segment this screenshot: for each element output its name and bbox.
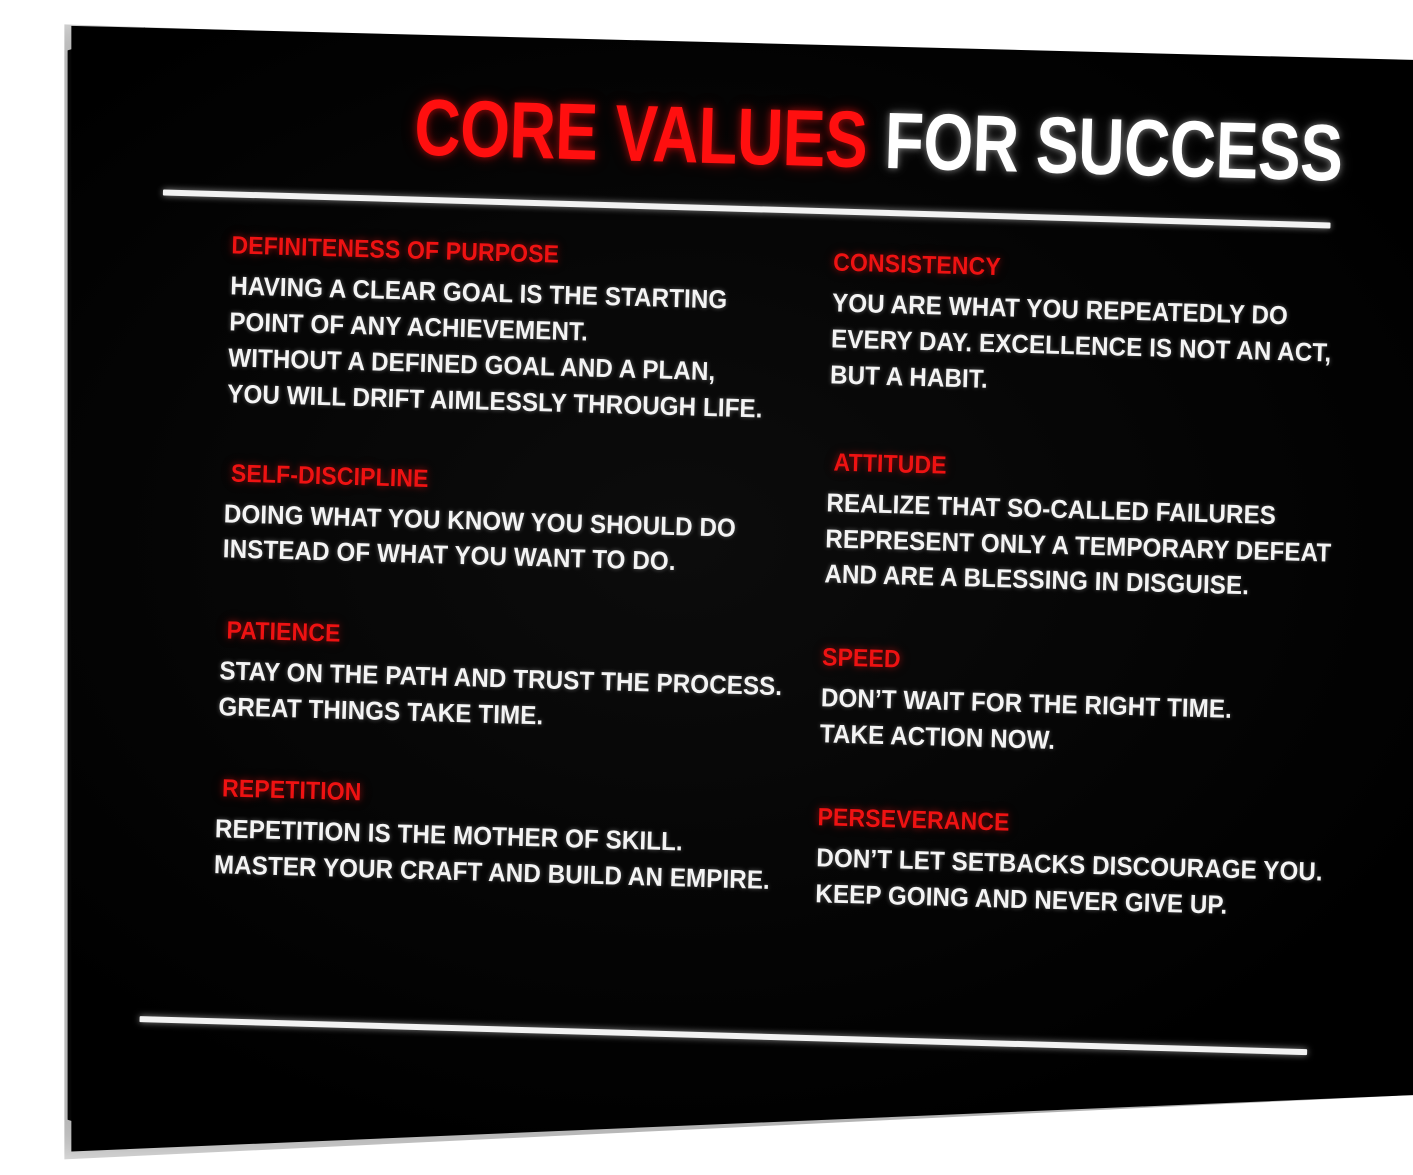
printed-artwork: CORE VALUES FOR SUCCESS DEFINITENESS OF …: [0, 0, 1413, 1175]
value-heading: ATTITUDE: [833, 449, 1297, 489]
value-section-consistency: CONSISTENCY YOU ARE WHAT YOU REPEATEDLY …: [830, 249, 1344, 407]
value-column-left: DEFINITENESS OF PURPOSE HAVING A CLEAR G…: [213, 232, 771, 898]
value-section-patience: PATIENCE STAY ON THE PATH AND TRUST THE …: [218, 618, 761, 741]
value-section-attitude: ATTITUDE REALIZE THAT SO-CALLED FAILURES…: [824, 449, 1338, 607]
value-section-perseverance: PERSEVERANCE DON’T LET SETBACKS DISCOURA…: [815, 804, 1328, 926]
canvas-print-face: CORE VALUES FOR SUCCESS DEFINITENESS OF …: [0, 0, 1413, 1175]
value-heading: REPETITION: [222, 775, 714, 816]
value-heading: SPEED: [822, 645, 1292, 685]
value-column-right: CONSISTENCY YOU ARE WHAT YOU REPEATEDLY …: [815, 249, 1344, 926]
value-heading: CONSISTENCY: [833, 249, 1303, 289]
value-columns: DEFINITENESS OF PURPOSE HAVING A CLEAR G…: [0, 0, 1413, 1175]
value-heading: PATIENCE: [226, 618, 718, 659]
value-heading: SELF-DISCIPLINE: [231, 460, 723, 501]
value-heading: DEFINITENESS OF PURPOSE: [231, 232, 728, 273]
value-section-repetition: REPETITION REPETITION IS THE MOTHER OF S…: [213, 775, 756, 898]
poster-stage: CORE VALUES FOR SUCCESS DEFINITENESS OF …: [0, 0, 1413, 1175]
value-heading: PERSEVERANCE: [817, 804, 1287, 844]
value-section-speed: SPEED DON’T WAIT FOR THE RIGHT TIME. TAK…: [819, 645, 1332, 767]
value-section-definiteness-of-purpose: DEFINITENESS OF PURPOSE HAVING A CLEAR G…: [227, 232, 772, 427]
value-section-self-discipline: SELF-DISCIPLINE DOING WHAT YOU KNOW YOU …: [222, 460, 765, 583]
